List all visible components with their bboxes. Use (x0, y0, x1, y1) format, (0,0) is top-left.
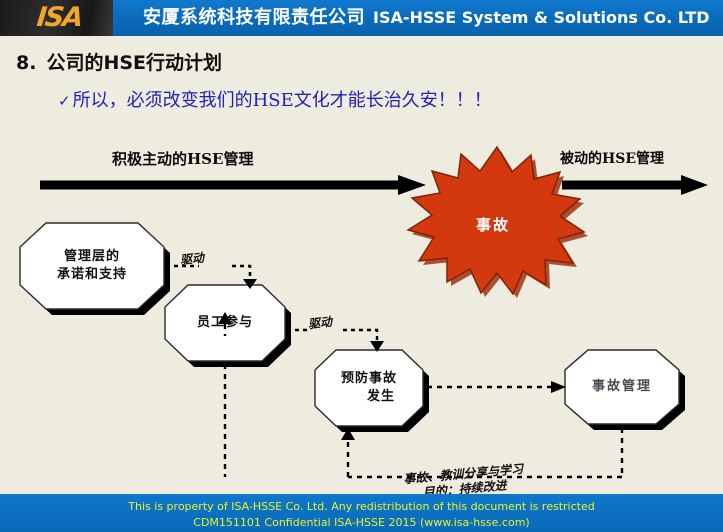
isa-logo: ISA (22, 2, 95, 34)
proactive-arrow (40, 175, 426, 195)
checkmark-icon: ✓ (58, 92, 71, 110)
company-title-en: ISA-HSSE System & Solutions Co. LTD (373, 8, 710, 27)
bullet-item-label: 所以，必须改变我们的HSE文化才能长治久安！！！ (73, 90, 492, 111)
node-2-line1: 员工参与 (197, 314, 253, 332)
page-title-number: 8. (16, 52, 36, 74)
drive-label-1: 驱动 (179, 249, 205, 269)
page-title-text: 公司的HSE行动计划 (46, 52, 222, 74)
company-title-cn: 安厦系统科技有限责任公司 (143, 7, 365, 28)
slide-body: 8.公司的HSE行动计划 ✓所以，必须改变我们的HSE文化才能长治久安！！！ 积… (0, 36, 723, 494)
connector-feedback-arrowhead (341, 428, 355, 440)
node-1-text: 管理层的 承诺和支持 (20, 223, 164, 309)
drive-label-2: 驱动 (307, 313, 333, 333)
node-4-text: 事故管理 (565, 350, 679, 424)
footer-line-1: This is property of ISA-HSSE Co. Ltd. An… (0, 499, 723, 515)
company-title: 安厦系统科技有限责任公司ISA-HSSE System & Solutions … (113, 0, 723, 36)
node-3-line2: 发生 (367, 388, 395, 406)
node-1-line1: 管理层的 (64, 248, 120, 266)
proactive-label: 积极主动的HSE管理 (112, 148, 253, 169)
node-management-commitment[interactable]: 管理层的 承诺和支持 (20, 223, 164, 309)
node-2-text: 员工参与 (165, 285, 285, 361)
node-employee-participation[interactable]: 员工参与 (165, 285, 285, 361)
reactive-arrow (562, 175, 708, 195)
footer-line-2: CDM151101 Confidential ISA-HSSE 2015 (ww… (0, 515, 723, 531)
app-header: ISA 安厦系统科技有限责任公司ISA-HSSE System & Soluti… (0, 0, 723, 36)
logo-panel: ISA (0, 0, 113, 36)
node-3-text: 预防事故 发生 (315, 350, 423, 426)
node-accident-management[interactable]: 事故管理 (565, 350, 679, 424)
node-1-line2: 承诺和支持 (57, 266, 127, 284)
reactive-label: 被动的HSE管理 (560, 148, 664, 168)
connector-2 (287, 330, 377, 340)
connector-3-arrowhead (551, 381, 566, 393)
page-title: 8.公司的HSE行动计划 (16, 48, 222, 75)
accident-burst-label: 事故 (463, 214, 523, 235)
node-4-line1: 事故管理 (592, 378, 652, 396)
node-accident-prevention[interactable]: 预防事故 发生 (315, 350, 423, 426)
footer-bar: This is property of ISA-HSSE Co. Ltd. An… (0, 494, 723, 532)
connector-1 (166, 266, 250, 276)
node-3-line1: 预防事故 (341, 370, 397, 388)
header-banner: 安厦系统科技有限责任公司ISA-HSSE System & Solutions … (113, 0, 723, 36)
bullet-item: ✓所以，必须改变我们的HSE文化才能长治久安！！！ (58, 86, 492, 112)
